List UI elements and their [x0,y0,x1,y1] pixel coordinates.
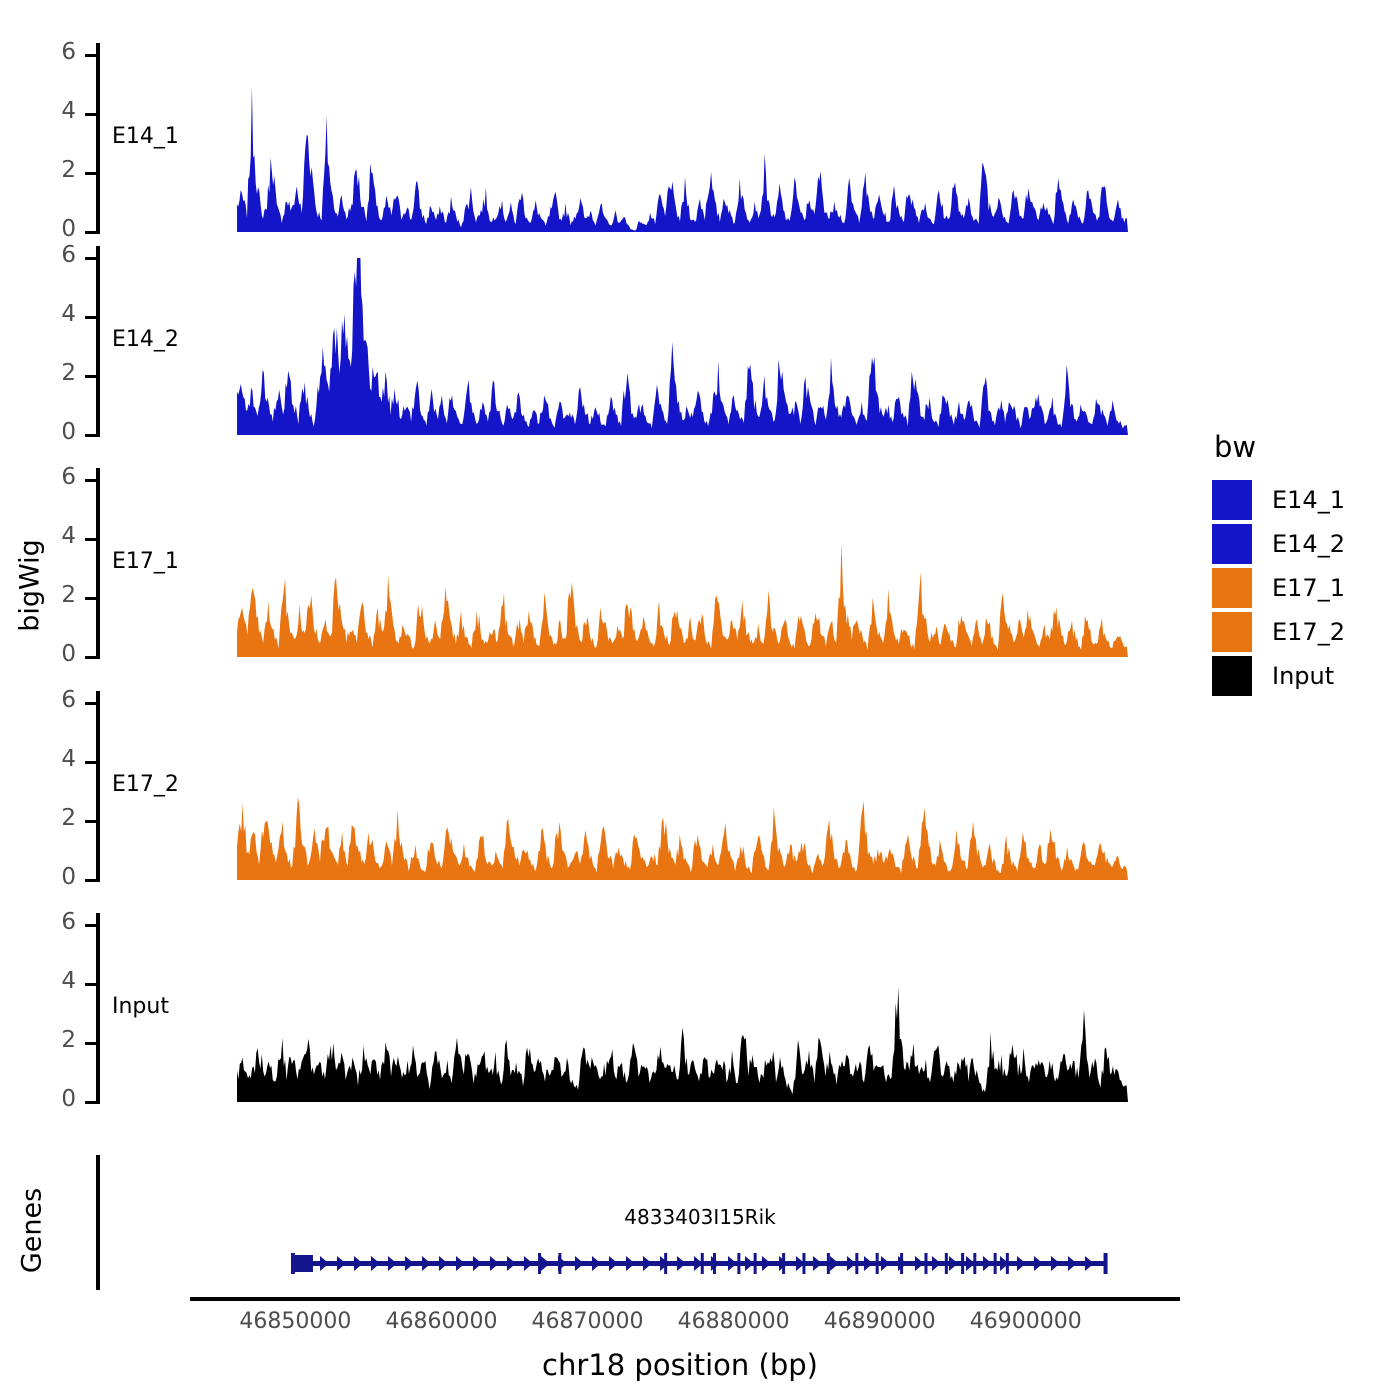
legend-label-e17_1: E17_1 [1272,574,1345,602]
legend-item-e14_1[interactable]: E14_1 [1212,478,1345,522]
y-axis-line-E14_1 [96,43,100,234]
y-tick-label: 2 [6,805,76,831]
y-tick-label: 4 [6,301,76,327]
track-panel-E14_2 [237,258,1128,437]
y-tickmark [85,375,96,378]
y-tick-label: 2 [6,1027,76,1053]
y-tickmark [85,172,96,175]
y-tickmark [85,538,96,541]
y-tickmark [85,316,96,319]
y-tickmark [85,702,96,705]
legend-title: bw [1214,430,1345,464]
y-tick-label: 4 [6,968,76,994]
y-tickmark [85,1042,96,1045]
legend-item-e17_2[interactable]: E17_2 [1212,610,1345,654]
legend-label-e14_2: E14_2 [1272,530,1345,558]
track-label-Input: Input [112,994,169,1019]
y-tick-label: 4 [6,746,76,772]
y-tick-label: 2 [6,360,76,386]
y-tickmark [85,761,96,764]
y-tick-label: 0 [6,216,76,242]
y-tickmark [85,113,96,116]
y-tickmark [85,231,96,234]
track-label-E17_1: E17_1 [112,549,179,574]
y-tick-label: 6 [6,909,76,935]
legend-item-input[interactable]: Input [1212,654,1345,698]
legend-swatch-e17_2 [1212,612,1252,652]
y-tickmark [85,434,96,437]
y-tickmark [85,656,96,659]
legend-label-e14_1: E14_1 [1272,486,1345,514]
y-axis-line-E17_1 [96,468,100,659]
legend-item-e17_1[interactable]: E17_1 [1212,566,1345,610]
y-tick-label: 2 [6,582,76,608]
track-panel-Input [237,925,1128,1104]
y-tickmark [85,983,96,986]
y-axis-line-Input [96,913,100,1104]
legend-swatch-e17_1 [1212,568,1252,608]
legend-label-input: Input [1272,662,1334,690]
legend-items: E14_1E14_2E17_1E17_2Input [1212,478,1345,698]
track-label-E14_1: E14_1 [112,124,179,149]
x-tick-label: 46900000 [936,1309,1116,1334]
y-tickmark [85,597,96,600]
x-axis-label: chr18 position (bp) [230,1348,1130,1382]
track-label-E14_2: E14_2 [112,327,179,352]
y-tick-label: 0 [6,1086,76,1112]
y-tick-label: 0 [6,419,76,445]
legend-item-e14_2[interactable]: E14_2 [1212,522,1345,566]
y-tick-label: 4 [6,98,76,124]
y-tick-label: 0 [6,864,76,890]
track-panel-E14_1 [237,55,1128,234]
y-tick-label: 2 [6,157,76,183]
y-tick-label: 6 [6,687,76,713]
y-tick-label: 4 [6,523,76,549]
legend-swatch-input [1212,656,1252,696]
track-panel-E17_2 [237,703,1128,882]
legend: bw E14_1E14_2E17_1E17_2Input [1212,430,1345,698]
legend-swatch-e14_2 [1212,524,1252,564]
y-tickmark [85,924,96,927]
legend-swatch-e14_1 [1212,480,1252,520]
y-tick-label: 6 [6,242,76,268]
y-axis-line-E14_2 [96,246,100,437]
track-label-E17_2: E17_2 [112,772,179,797]
y-tick-label: 6 [6,464,76,490]
y-tickmark [85,879,96,882]
x-axis-line [190,1297,1180,1301]
track-panel-E17_1 [237,480,1128,659]
y-tickmark [85,1101,96,1104]
legend-label-e17_2: E17_2 [1272,618,1345,646]
y-tick-label: 6 [6,39,76,65]
gene-name-label: 4833403I15Rik [430,1205,970,1229]
y-tickmark [85,54,96,57]
y-tickmark [85,257,96,260]
y-tickmark [85,820,96,823]
y-axis-line-E17_2 [96,691,100,882]
y-tickmark [85,479,96,482]
y-tick-label: 0 [6,641,76,667]
